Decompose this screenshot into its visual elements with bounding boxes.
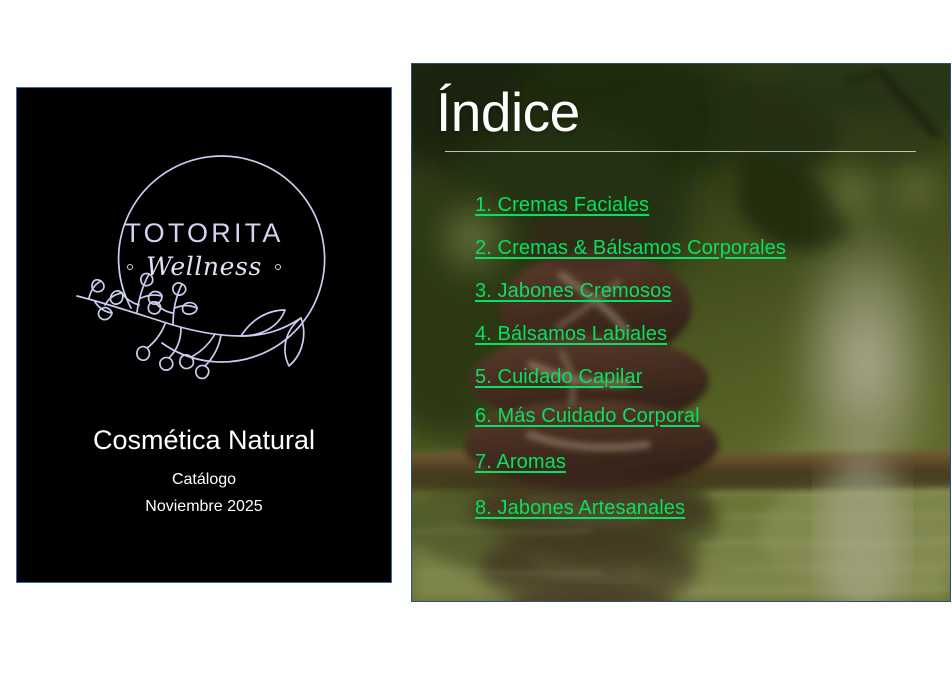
index-list: 1. Cremas Faciales 2. Cremas & Bálsamos … [475,195,940,518]
page-title: Índice [436,82,580,143]
list-item: 1. Cremas Faciales [475,195,940,215]
brand-script-row: Wellness [69,254,339,279]
index-link-cremas-faciales[interactable]: 1. Cremas Faciales [475,195,649,215]
index-link-cuidado-capilar[interactable]: 5. Cuidado Capilar [475,367,642,387]
list-item: 8. Jabones Artesanales [475,498,940,518]
dot-left-icon [127,264,133,270]
slide-canvas: TOTORITA Wellness Cosmética Natural Catá… [0,0,952,673]
list-item: 4. Bálsamos Labiales [475,324,940,344]
index-link-balsamos-labiales[interactable]: 4. Bálsamos Labiales [475,324,667,344]
index-content: Índice 1. Cremas Faciales 2. Cremas & Bá… [412,64,950,601]
cover-subtitle-catalog: Catálogo [17,471,391,489]
index-link-aromas[interactable]: 7. Aromas [475,452,566,472]
index-link-jabones-cremosos[interactable]: 3. Jabones Cremosos [475,281,671,301]
cover-title: Cosmética Natural [17,426,391,456]
index-link-jabones-artesanales[interactable]: 8. Jabones Artesanales [475,498,685,518]
index-link-mas-cuidado-corporal[interactable]: 6. Más Cuidado Corporal [475,406,700,426]
list-item: 5. Cuidado Capilar [475,367,940,387]
dot-right-icon [275,264,281,270]
index-panel: Índice 1. Cremas Faciales 2. Cremas & Bá… [411,63,951,602]
list-item: 7. Aromas [475,452,940,472]
cover-card: TOTORITA Wellness Cosmética Natural Catá… [16,87,392,583]
list-item: 6. Más Cuidado Corporal [475,406,940,426]
list-item: 2. Cremas & Bálsamos Corporales [475,238,940,258]
cover-subtitle-date: Noviembre 2025 [17,498,391,516]
title-divider [445,151,916,152]
brand-script: Wellness [146,254,262,279]
list-item: 3. Jabones Cremosos [475,281,940,301]
brand-name: TOTORITA [69,220,339,247]
index-link-cremas-balsamos-corporales[interactable]: 2. Cremas & Bálsamos Corporales [475,238,786,258]
brand-logo: TOTORITA Wellness [69,112,339,388]
circle-outline-icon [69,112,339,388]
